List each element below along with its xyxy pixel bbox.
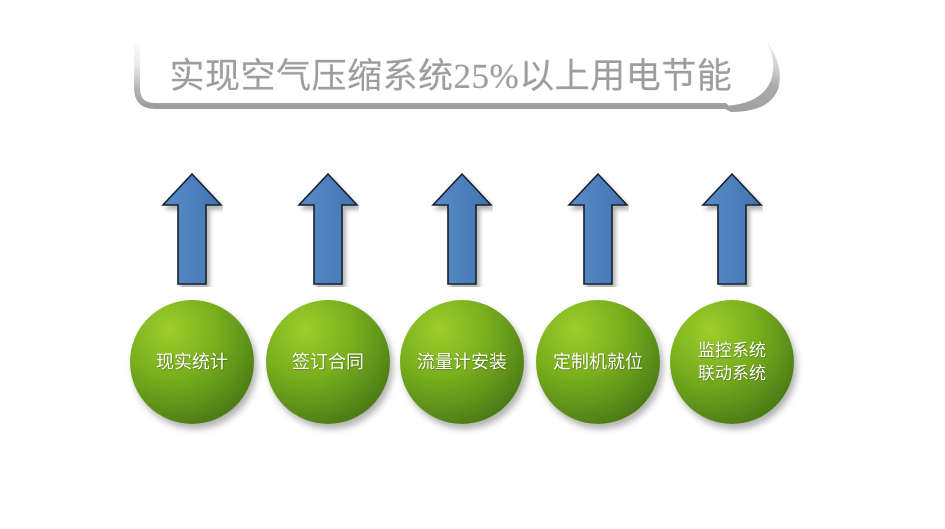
node-label-5-line1: 监控系统: [698, 339, 766, 362]
node-label-2-line1: 签订合同: [292, 350, 364, 374]
process-node-5[interactable]: 监控系统 联动系统: [670, 300, 794, 424]
arrow-up-icon-4: [567, 172, 629, 287]
node-label-5: 监控系统 联动系统: [670, 300, 794, 424]
slide-canvas: 实现空气压缩系统25%以上用电节能 现实统计: [0, 0, 945, 529]
process-node-3[interactable]: 流量计安装: [400, 300, 524, 424]
node-label-2: 签订合同: [266, 300, 390, 424]
process-node-4[interactable]: 定制机就位: [536, 300, 660, 424]
node-label-1: 现实统计: [130, 300, 254, 424]
process-node-1[interactable]: 现实统计: [130, 300, 254, 424]
arrow-up-icon-5: [701, 172, 763, 287]
title-banner: 实现空气压缩系统25%以上用电节能: [131, 36, 781, 131]
node-label-3-line1: 流量计安装: [417, 350, 507, 374]
process-node-2[interactable]: 签订合同: [266, 300, 390, 424]
node-label-4-line1: 定制机就位: [553, 350, 643, 374]
page-title: 实现空气压缩系统25%以上用电节能: [131, 56, 771, 98]
node-label-5-line2: 联动系统: [698, 362, 766, 385]
node-label-4: 定制机就位: [536, 300, 660, 424]
arrow-up-icon-3: [431, 172, 493, 287]
node-label-3: 流量计安装: [400, 300, 524, 424]
arrow-up-icon-2: [297, 172, 359, 287]
arrow-up-icon-1: [161, 172, 223, 287]
node-label-1-line1: 现实统计: [156, 350, 228, 374]
